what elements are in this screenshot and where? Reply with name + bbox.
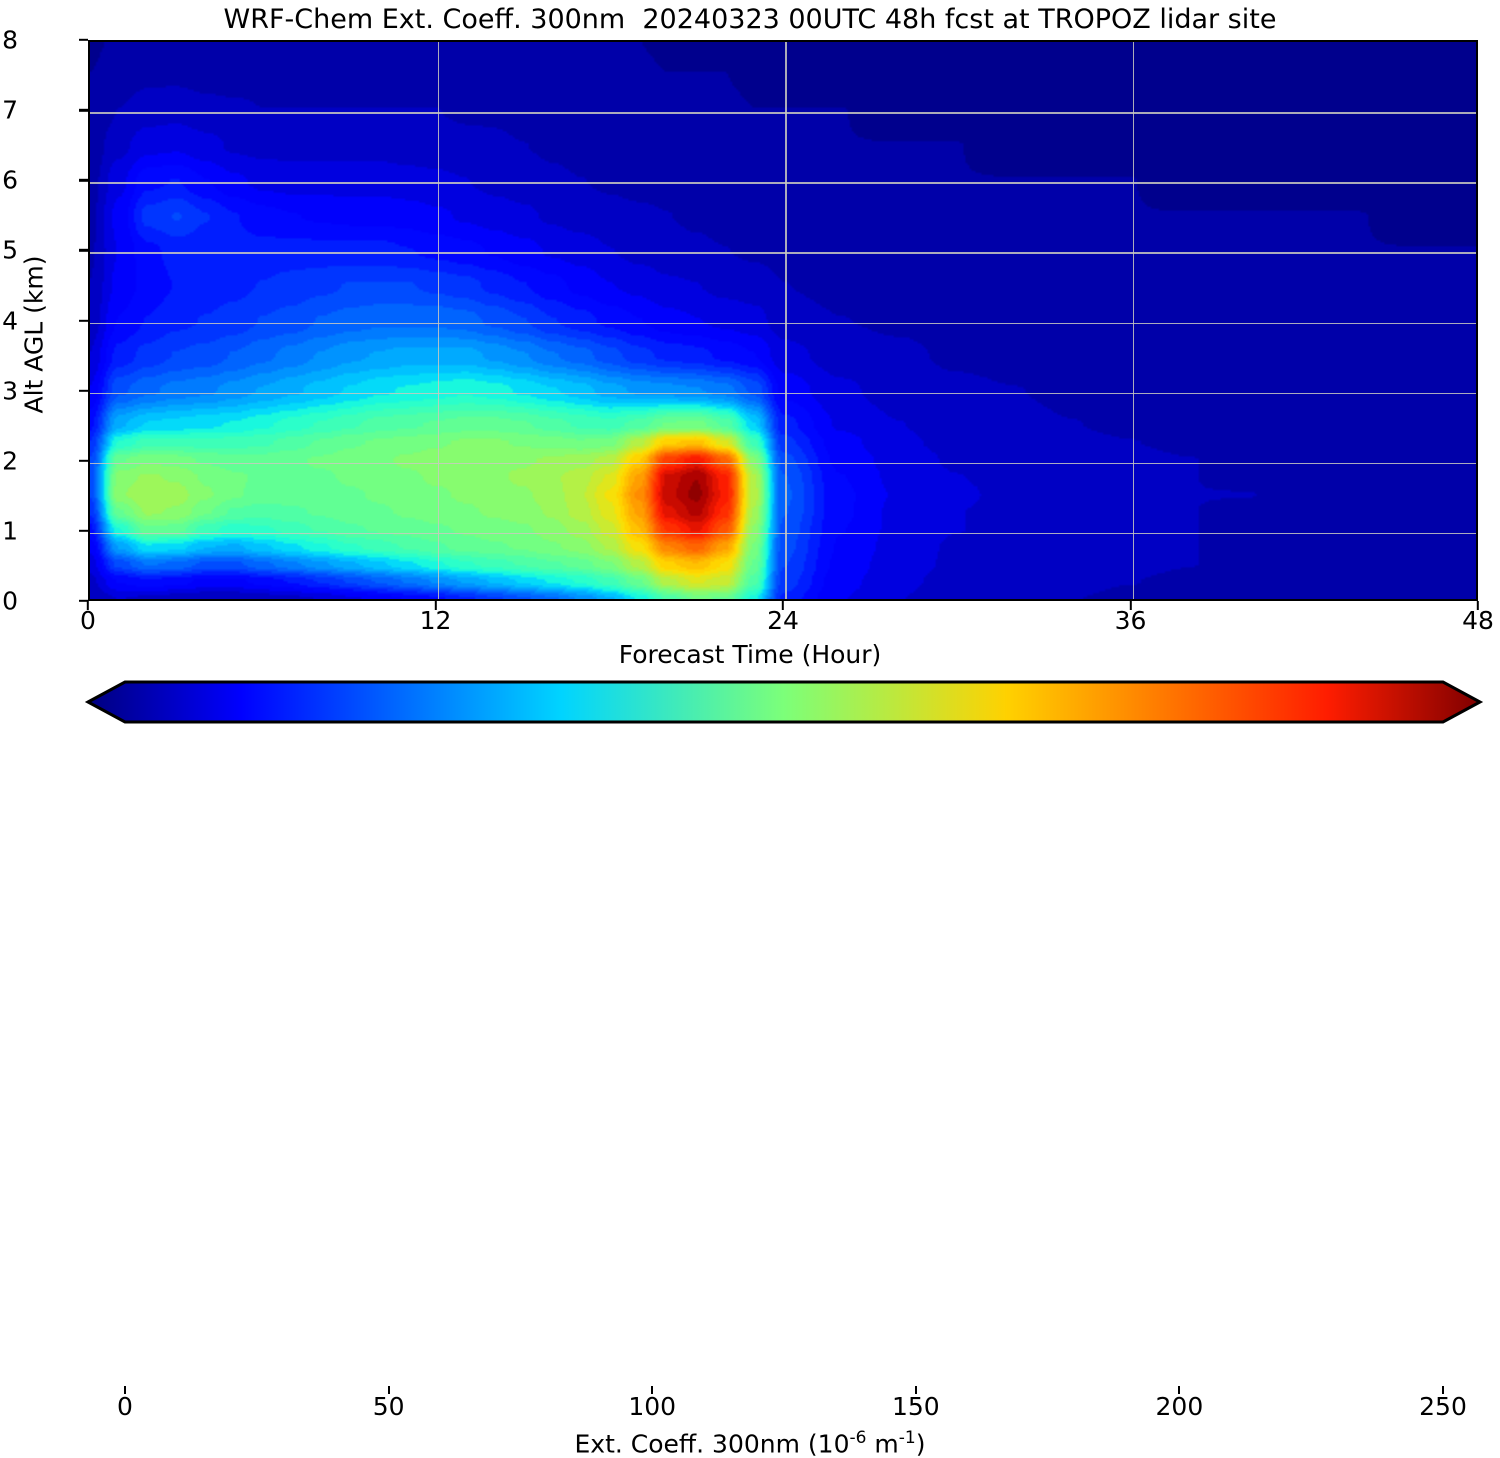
colorbar-tick-label: 250 bbox=[1419, 1392, 1467, 1421]
x-tick-mark bbox=[87, 601, 89, 610]
y-tick-mark bbox=[79, 460, 88, 462]
y-tick-label: 2 bbox=[0, 446, 18, 475]
colorbar-label-exp2: -1 bbox=[899, 1428, 916, 1448]
colorbar-label-mid: m bbox=[866, 1429, 898, 1458]
y-tick-label: 0 bbox=[0, 587, 18, 616]
y-tick-mark bbox=[79, 389, 88, 391]
heatmap-field bbox=[90, 42, 1476, 599]
y-axis-label: Alt AGL (km) bbox=[20, 205, 49, 465]
colorbar-tick-mark bbox=[1442, 1386, 1444, 1394]
colorbar-tick-mark bbox=[124, 1386, 126, 1394]
y-tick-label: 4 bbox=[0, 306, 18, 335]
grid-line-horizontal bbox=[90, 463, 1476, 465]
y-tick-mark bbox=[79, 319, 88, 321]
grid-line-horizontal bbox=[90, 112, 1476, 114]
colorbar-label: Ext. Coeff. 300nm (10-6 m-1) bbox=[0, 1428, 1500, 1458]
grid-line-vertical bbox=[785, 42, 787, 599]
y-tick-label: 3 bbox=[0, 376, 18, 405]
colorbar-gradient bbox=[0, 676, 1500, 736]
colorbar: 050100150200250 Ext. Coeff. 300nm (10-6 … bbox=[0, 676, 1500, 800]
grid-line-horizontal bbox=[90, 182, 1476, 184]
x-tick-label: 12 bbox=[420, 606, 452, 635]
colorbar-label-end: ) bbox=[916, 1429, 926, 1458]
x-axis-label: Forecast Time (Hour) bbox=[0, 640, 1500, 669]
y-tick-mark bbox=[79, 39, 88, 41]
y-tick-label: 5 bbox=[0, 236, 18, 265]
x-tick-label: 24 bbox=[767, 606, 799, 635]
y-tick-label: 8 bbox=[0, 26, 18, 55]
y-tick-mark bbox=[79, 530, 88, 532]
colorbar-tick-label: 0 bbox=[117, 1392, 133, 1421]
y-tick-label: 7 bbox=[0, 96, 18, 125]
y-tick-mark bbox=[79, 179, 88, 181]
colorbar-label-exp1: -6 bbox=[849, 1428, 866, 1448]
colorbar-tick-mark bbox=[1178, 1386, 1180, 1394]
colorbar-tick-mark bbox=[915, 1386, 917, 1394]
x-tick-label: 48 bbox=[1462, 606, 1494, 635]
colorbar-label-main: Ext. Coeff. 300nm (10 bbox=[575, 1429, 850, 1458]
grid-line-horizontal bbox=[90, 252, 1476, 254]
x-tick-mark bbox=[1129, 601, 1131, 610]
y-tick-mark bbox=[79, 109, 88, 111]
y-tick-label: 6 bbox=[0, 166, 18, 195]
y-tick-mark bbox=[79, 249, 88, 251]
grid-line-horizontal bbox=[90, 393, 1476, 395]
grid-line-vertical bbox=[1133, 42, 1135, 599]
x-tick-mark bbox=[1477, 601, 1479, 610]
colorbar-tick-mark bbox=[388, 1386, 390, 1394]
colorbar-tick-mark bbox=[651, 1386, 653, 1394]
grid-line-horizontal bbox=[90, 323, 1476, 325]
colorbar-tick-label: 100 bbox=[628, 1392, 676, 1421]
x-tick-label: 36 bbox=[1115, 606, 1147, 635]
colorbar-tick-label: 200 bbox=[1156, 1392, 1204, 1421]
y-tick-label: 1 bbox=[0, 516, 18, 545]
colorbar-tick-label: 50 bbox=[373, 1392, 405, 1421]
colorbar-tick-label: 150 bbox=[892, 1392, 940, 1421]
x-tick-label: 0 bbox=[80, 606, 96, 635]
figure-root: WRF-Chem Ext. Coeff. 300nm 20240323 00UT… bbox=[0, 0, 1500, 800]
grid-line-horizontal bbox=[90, 533, 1476, 535]
x-tick-mark bbox=[782, 601, 784, 610]
main-axes bbox=[88, 40, 1478, 601]
page-title: WRF-Chem Ext. Coeff. 300nm 20240323 00UT… bbox=[0, 4, 1500, 35]
x-tick-mark bbox=[434, 601, 436, 610]
grid-line-vertical bbox=[438, 42, 440, 599]
